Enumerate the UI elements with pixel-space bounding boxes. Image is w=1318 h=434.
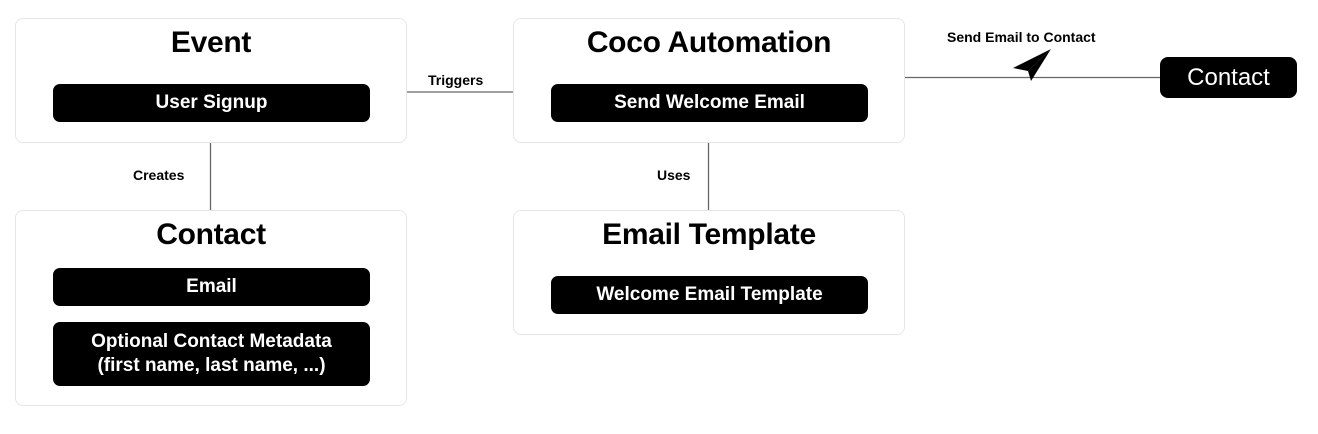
card-title-coco-automation: Coco Automation xyxy=(514,28,904,58)
edge-label-send-email-to-contact: Send Email to Contact xyxy=(947,30,1096,44)
entity-card-contact[interactable]: Contact Email Optional Contact Metadata … xyxy=(15,210,407,406)
field-pill-optional-contact-metadata[interactable]: Optional Contact Metadata (first name, l… xyxy=(53,322,370,386)
field-pill-email[interactable]: Email xyxy=(53,268,370,306)
paper-plane-icon xyxy=(1011,48,1053,82)
entity-card-email-template[interactable]: Email Template Welcome Email Template xyxy=(513,210,905,335)
entity-card-event[interactable]: Event User Signup xyxy=(15,18,407,143)
edge-label-uses: Uses xyxy=(657,168,690,182)
node-contact-recipient[interactable]: Contact xyxy=(1160,57,1297,98)
entity-card-coco-automation[interactable]: Coco Automation Send Welcome Email xyxy=(513,18,905,143)
card-title-contact: Contact xyxy=(16,220,406,250)
field-pill-user-signup[interactable]: User Signup xyxy=(53,84,370,122)
field-pill-send-welcome-email[interactable]: Send Welcome Email xyxy=(551,84,868,122)
card-title-email-template: Email Template xyxy=(514,220,904,250)
automation-flow-diagram: Event User Signup Coco Automation Send W… xyxy=(0,0,1318,434)
card-title-event: Event xyxy=(16,28,406,58)
edge-label-triggers: Triggers xyxy=(428,73,483,87)
field-pill-welcome-email-template[interactable]: Welcome Email Template xyxy=(551,276,868,314)
edge-label-creates: Creates xyxy=(133,168,184,182)
